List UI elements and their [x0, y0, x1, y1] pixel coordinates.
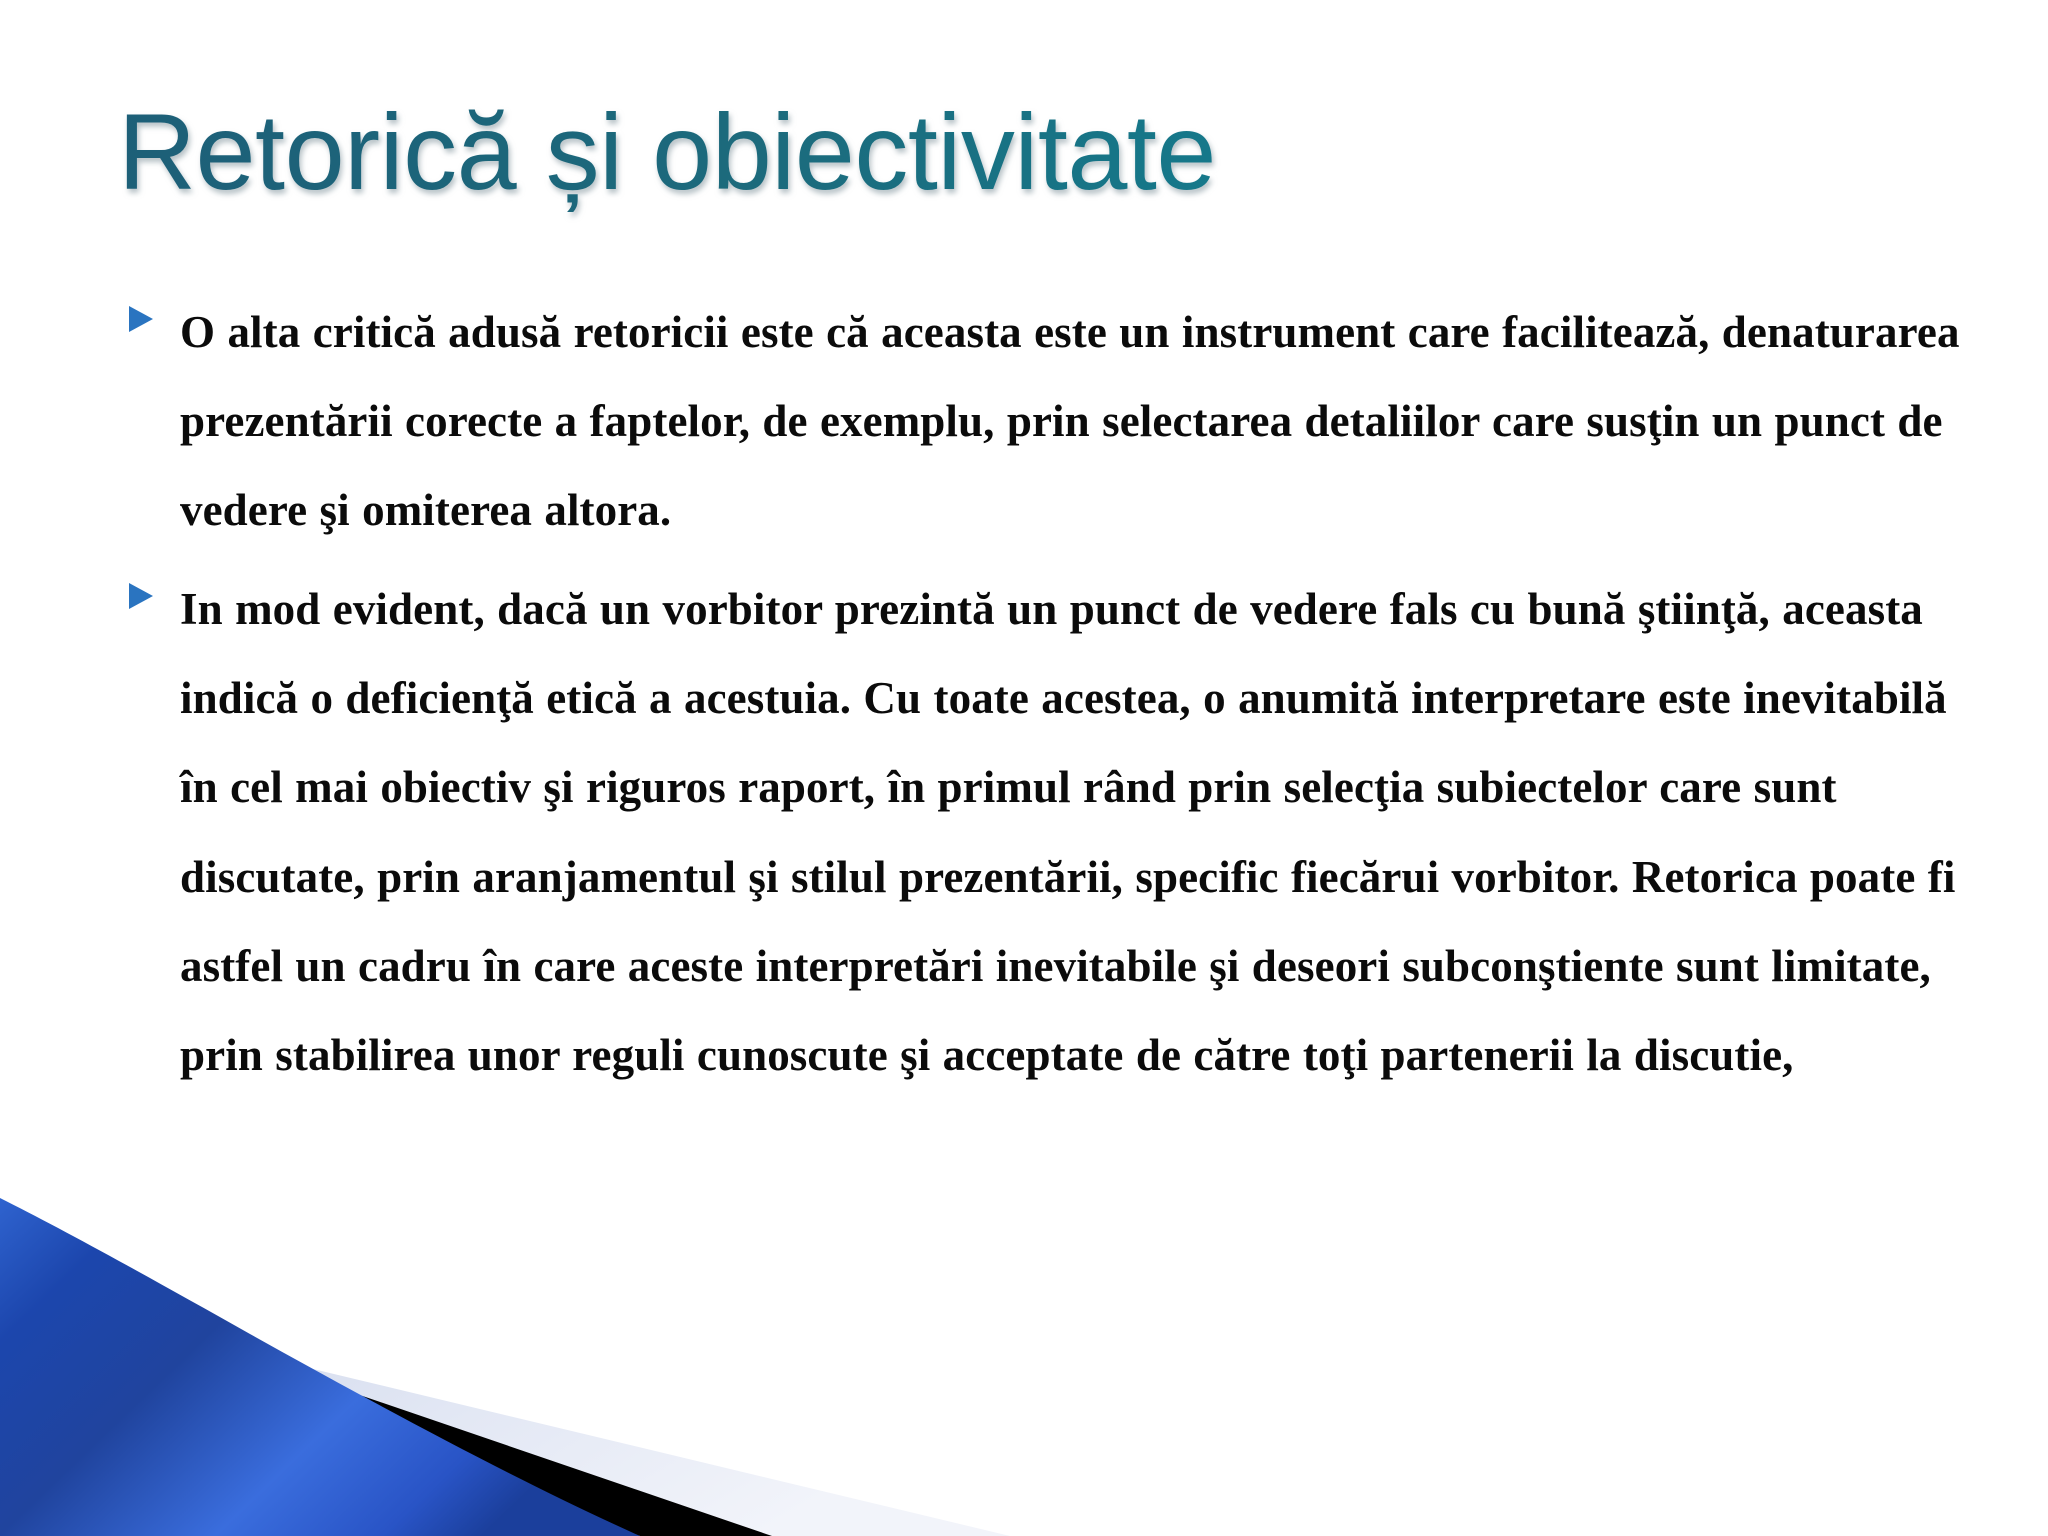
- list-item: O alta critică adusă retoricii este că a…: [118, 288, 1970, 555]
- triangle-bullet-icon: [118, 565, 180, 613]
- list-item: In mod evident, dacă un vorbitor prezint…: [118, 565, 1970, 1100]
- bullet-paragraph: In mod evident, dacă un vorbitor prezint…: [180, 565, 1970, 1100]
- slide-canvas: Retorică și obiectivitate O alta critică…: [0, 0, 2048, 1536]
- page-title: Retorică și obiectivitate: [118, 92, 1938, 213]
- triangle-bullet-icon: [118, 288, 180, 336]
- content-placeholder: O alta critică adusă retoricii este că a…: [118, 288, 1970, 1110]
- title-placeholder: Retorică și obiectivitate: [118, 92, 1938, 242]
- bullet-paragraph: O alta critică adusă retoricii este că a…: [180, 288, 1970, 555]
- bottom-left-corner-graphic: [0, 1176, 1250, 1536]
